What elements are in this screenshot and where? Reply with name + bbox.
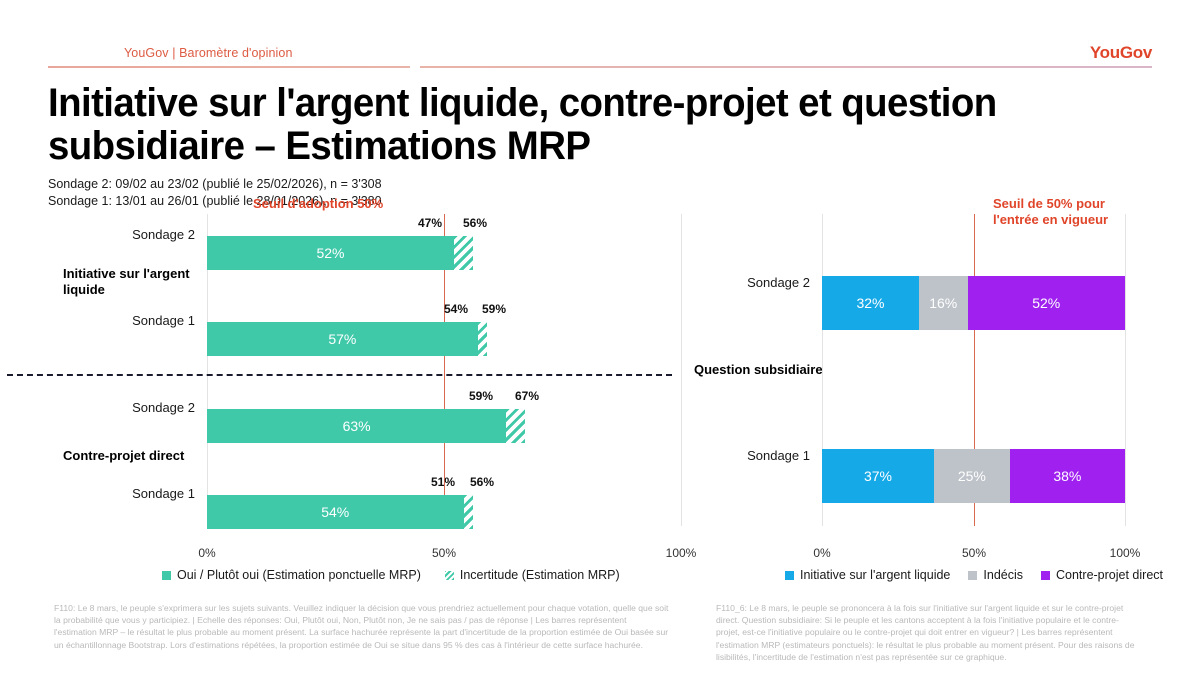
segment-counterproposal-1: 38% — [1010, 449, 1125, 503]
lower-bound-label-1: 54% — [444, 302, 468, 316]
right-chart-legend: Initiative sur l'argent liquide Indécis … — [785, 568, 1163, 582]
right-cat-label-0: Sondage 2 — [700, 275, 810, 290]
bar-value-1: 57% — [207, 322, 478, 356]
page-title: Initiative sur l'argent liquide, contre-… — [48, 82, 1066, 168]
right-axis-tick-100: 100% — [1110, 546, 1141, 560]
left-cat-label-0: Sondage 2 — [0, 227, 195, 242]
legend-label-initiative: Initiative sur l'argent liquide — [800, 568, 950, 582]
segment-undecided-1: 25% — [934, 449, 1010, 503]
right-plot-area: 32% 16% 52% 37% 25% 38% — [822, 214, 1126, 526]
right-axis-tick-0: 0% — [813, 546, 830, 560]
footnote-left: F110: Le 8 mars, le peuple s'exprimera s… — [54, 602, 670, 651]
lower-bound-label-3: 51% — [431, 475, 455, 489]
upper-bound-label-2: 67% — [515, 389, 539, 403]
segment-label-counterproposal-0: 52% — [1032, 295, 1060, 311]
segment-label-initiative-1: 37% — [864, 468, 892, 484]
segment-initiative-0: 32% — [822, 276, 919, 330]
left-axis-tick-100: 100% — [666, 546, 697, 560]
header-rule-left — [48, 66, 410, 68]
legend-label-uncertainty: Incertitude (Estimation MRP) — [460, 568, 620, 582]
bar-value-3: 54% — [207, 495, 464, 529]
bar-value-label-2: 63% — [343, 418, 371, 434]
header-rule-right — [420, 66, 1152, 68]
segment-label-undecided-1: 25% — [958, 468, 986, 484]
segment-label-counterproposal-1: 38% — [1053, 468, 1081, 484]
segment-label-undecided-0: 16% — [929, 295, 957, 311]
stacked-bar-row-1[interactable]: 37% 25% 38% — [822, 449, 1126, 503]
left-chart-panel: Seuil d'adoption 50% Sondage 2 Sondage 1… — [0, 196, 700, 592]
bar-value-0: 52% — [207, 236, 454, 270]
left-plot-area: 52% 47% 56% 57% 54% 59% 63% — [207, 214, 682, 526]
right-cat-label-1: Sondage 1 — [700, 448, 810, 463]
left-threshold-note: Seuil d'adoption 50% — [253, 196, 383, 212]
group-label-initiative: Initiative sur l'argent liquide — [63, 266, 195, 297]
section-divider — [7, 374, 672, 376]
left-axis-tick-0: 0% — [198, 546, 215, 560]
segment-undecided-0: 16% — [919, 276, 968, 330]
header-breadcrumb: YouGov | Baromètre d'opinion — [124, 46, 293, 60]
bar-row-1[interactable]: 57% — [207, 322, 682, 356]
right-axis-tick-50: 50% — [962, 546, 986, 560]
bar-row-3[interactable]: 54% — [207, 495, 682, 529]
left-axis-tick-50: 50% — [432, 546, 456, 560]
stacked-bar-row-0[interactable]: 32% 16% 52% — [822, 276, 1126, 330]
bar-value-2: 63% — [207, 409, 506, 443]
legend-swatch-counterproposal-icon — [1041, 571, 1050, 580]
legend-label-undecided: Indécis — [983, 568, 1023, 582]
legend-item-counterproposal[interactable]: Contre-projet direct — [1041, 568, 1163, 582]
legend-item-undecided[interactable]: Indécis — [968, 568, 1023, 582]
legend-item-uncertainty[interactable]: Incertitude (Estimation MRP) — [445, 568, 620, 582]
left-cat-label-3: Sondage 1 — [0, 486, 195, 501]
bar-row-2[interactable]: 63% — [207, 409, 682, 443]
legend-label-counterproposal: Contre-projet direct — [1056, 568, 1163, 582]
legend-item-point-estimate[interactable]: Oui / Plutôt oui (Estimation ponctuelle … — [162, 568, 421, 582]
right-chart-panel: Seuil de 50% pour l'entrée en vigueur So… — [700, 196, 1200, 592]
legend-swatch-initiative-icon — [785, 571, 794, 580]
left-cat-label-1: Sondage 1 — [0, 313, 195, 328]
group-label-counterproposal: Contre-projet direct — [63, 448, 203, 464]
left-cat-label-2: Sondage 2 — [0, 400, 195, 415]
yougov-logo: YouGov — [1090, 43, 1152, 63]
upper-bound-label-0: 56% — [463, 216, 487, 230]
lower-bound-label-2: 59% — [469, 389, 493, 403]
slide-root: YouGov | Baromètre d'opinion YouGov Init… — [0, 0, 1200, 674]
bar-value-label-1: 57% — [328, 331, 356, 347]
legend-label-point-estimate: Oui / Plutôt oui (Estimation ponctuelle … — [177, 568, 421, 582]
legend-swatch-undecided-icon — [968, 571, 977, 580]
legend-swatch-solid-icon — [162, 571, 171, 580]
upper-bound-label-1: 59% — [482, 302, 506, 316]
slide-header: YouGov | Baromètre d'opinion YouGov — [0, 0, 1200, 74]
segment-counterproposal-0: 52% — [968, 276, 1126, 330]
left-chart-legend: Oui / Plutôt oui (Estimation ponctuelle … — [162, 568, 620, 582]
bar-row-0[interactable]: 52% — [207, 236, 682, 270]
bar-value-label-0: 52% — [316, 245, 344, 261]
footnote-right: F110_6: Le 8 mars, le peuple se prononce… — [716, 602, 1136, 663]
segment-label-initiative-0: 32% — [856, 295, 884, 311]
upper-bound-label-3: 56% — [470, 475, 494, 489]
lower-bound-label-0: 47% — [418, 216, 442, 230]
bar-value-label-3: 54% — [321, 504, 349, 520]
legend-swatch-hatched-icon — [445, 571, 454, 580]
segment-initiative-1: 37% — [822, 449, 934, 503]
legend-item-initiative[interactable]: Initiative sur l'argent liquide — [785, 568, 950, 582]
